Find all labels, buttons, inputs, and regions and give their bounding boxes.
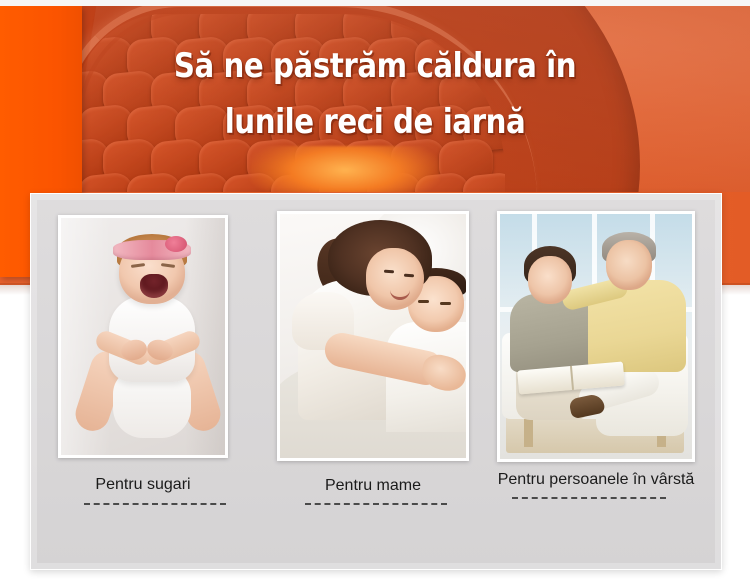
caption-underline-infants (84, 503, 226, 505)
header-banner (0, 6, 750, 192)
caption-underline-mothers (305, 503, 447, 505)
elderly-couple-on-bench-photo (500, 214, 692, 459)
caption-elderly: Pentru persoanele în vârstă (465, 471, 727, 489)
photo-frame-infants[interactable] (58, 215, 228, 458)
caption-mothers: Pentru mame (277, 477, 469, 495)
baby-open-mouth (140, 274, 168, 298)
sleeping-baby-eye-left (418, 300, 429, 303)
baby-headband-bow (165, 236, 187, 252)
top-white-margin (0, 0, 750, 6)
man-head (606, 240, 652, 290)
sleeping-baby-eye-right (440, 302, 451, 305)
promo-banner-page: Să ne păstrăm căldura în lunile reci de … (0, 0, 750, 580)
caption-infants: Pentru sugari (58, 476, 228, 494)
laughing-baby-photo (61, 218, 225, 455)
photo-frame-mothers[interactable] (277, 211, 469, 461)
mother-and-sleeping-baby-photo (280, 214, 466, 458)
photo-frame-elderly[interactable] (497, 211, 695, 462)
woman-head (528, 256, 572, 304)
mother-face (366, 248, 424, 310)
caption-underline-elderly (512, 497, 666, 499)
